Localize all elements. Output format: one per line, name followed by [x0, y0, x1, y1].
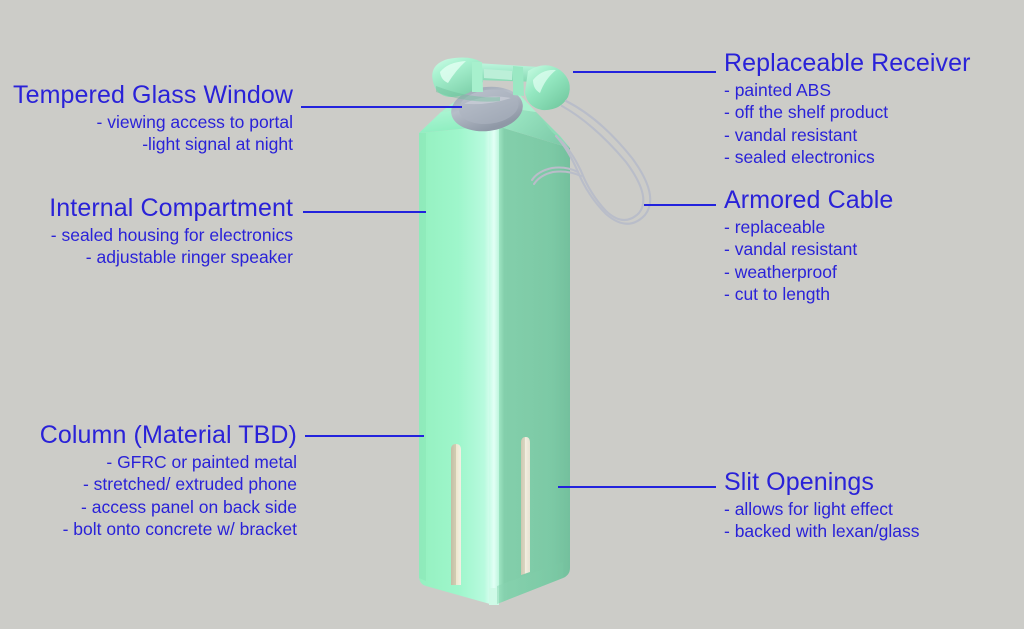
annotation-bullets: - replaceable - vandal resistant - weath… [724, 216, 893, 305]
annotation-bullet: - sealed housing for electronics [0, 224, 293, 246]
annotation-bullet: - weatherproof [724, 261, 893, 283]
column-right-face [497, 126, 570, 604]
annotation-bullet: - viewing access to portal [0, 111, 293, 133]
annotation-bullet: - vandal resistant [724, 124, 971, 146]
annotation-bullet: - replaceable [724, 216, 893, 238]
annotation-bullets: - viewing access to portal -light signal… [0, 111, 293, 156]
annotation-bullets: - GFRC or painted metal - stretched/ ext… [0, 451, 297, 540]
annotation-bullets: - painted ABS - off the shelf product - … [724, 79, 971, 168]
annotation-bullet: - stretched/ extruded phone [0, 473, 297, 495]
annotation-bullet: - cut to length [724, 283, 893, 305]
slit-left-edge [451, 444, 456, 585]
annotation-bullet: - sealed electronics [724, 146, 971, 168]
annotation-bullet: - backed with lexan/glass [724, 520, 920, 542]
annotation-slit-openings: Slit Openings - allows for light effect … [724, 467, 920, 543]
annotation-bullet: -light signal at night [0, 133, 293, 155]
column-left-edge-shade [419, 133, 426, 581]
annotation-bullet: - off the shelf product [724, 101, 971, 123]
annotation-title: Tempered Glass Window [0, 80, 293, 110]
diagram-canvas: Tempered Glass Window - viewing access t… [0, 0, 1024, 629]
annotation-tempered-glass-window: Tempered Glass Window - viewing access t… [0, 80, 293, 156]
cable-outer-loop [556, 101, 650, 224]
annotation-internal-compartment: Internal Compartment - sealed housing fo… [0, 193, 293, 269]
annotation-bullet: - allows for light effect [724, 498, 920, 520]
slit-right-edge [521, 437, 525, 575]
column-body [419, 124, 570, 605]
annotation-bullet: - vandal resistant [724, 238, 893, 260]
annotation-replaceable-receiver: Replaceable Receiver - painted ABS - off… [724, 48, 971, 168]
annotation-bullets: - sealed housing for electronics - adjus… [0, 224, 293, 269]
receiver-cradle-hook-left [472, 62, 483, 92]
annotation-bullets: - allows for light effect - backed with … [724, 498, 920, 543]
annotation-column-material-tbd: Column (Material TBD) - GFRC or painted … [0, 420, 297, 540]
annotation-title: Internal Compartment [0, 193, 293, 223]
annotation-bullet: - access panel on back side [0, 496, 297, 518]
annotation-title: Armored Cable [724, 185, 893, 215]
annotation-bullet: - adjustable ringer speaker [0, 246, 293, 268]
cable-inner-loop [560, 106, 643, 220]
annotation-bullet: - bolt onto concrete w/ bracket [0, 518, 297, 540]
annotation-bullet: - GFRC or painted metal [0, 451, 297, 473]
receiver-cradle-hook-right [513, 66, 524, 96]
annotation-title: Slit Openings [724, 467, 920, 497]
annotation-title: Replaceable Receiver [724, 48, 971, 78]
annotation-bullet: - painted ABS [724, 79, 971, 101]
annotation-title: Column (Material TBD) [0, 420, 297, 450]
annotation-armored-cable: Armored Cable - replaceable - vandal res… [724, 185, 893, 305]
column-center-edge [489, 124, 499, 605]
